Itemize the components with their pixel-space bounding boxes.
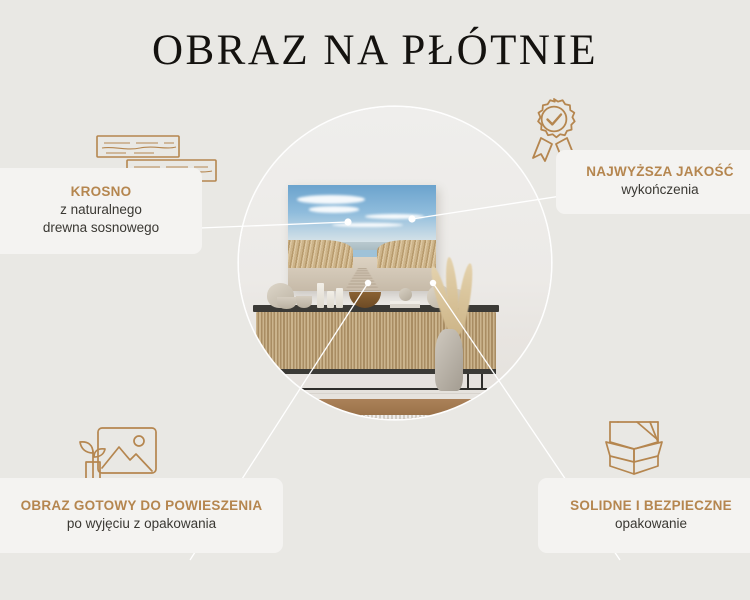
center-product-photo [239, 107, 551, 419]
feature-sub-line: wykończenia [621, 181, 698, 199]
feature-heading-jakosc: NAJWYŻSZA JAKOŚĆ [586, 164, 734, 181]
canvas-artwork-beach [288, 185, 436, 291]
page-title: OBRAZ NA PŁÓTNIE [0, 26, 750, 75]
ceramic-bowl [277, 297, 296, 309]
feature-card-opakowanie[interactable]: SOLIDNE I BEZPIECZNE opakowanie [538, 478, 750, 553]
feature-sub-gotowy: po wyjęciu z opakowania [67, 515, 216, 533]
feature-heading-gotowy: OBRAZ GOTOWY DO POWIESZENIA [21, 498, 263, 515]
feature-sub-line: drewna sosnowego [43, 219, 159, 237]
artwork-cloud [309, 206, 359, 212]
feature-heading-krosno: KROSNO [71, 184, 132, 201]
feature-card-jakosc[interactable]: NAJWYŻSZA JAKOŚĆ wykończenia [556, 150, 750, 214]
feature-sub-jakosc: wykończenia [621, 181, 698, 199]
artwork-cloud [365, 214, 424, 219]
pillar-candle [317, 283, 324, 308]
pillar-candle [336, 288, 343, 308]
floor-vase [435, 329, 463, 391]
feature-sub-line: z naturalnego [43, 201, 159, 219]
decor-sphere [399, 288, 412, 301]
feature-sub-line: opakowanie [615, 515, 687, 533]
artwork-cloud [297, 195, 365, 205]
stacked-books [390, 301, 420, 308]
feature-sub-opakowanie: opakowanie [615, 515, 687, 533]
artwork-dune-grass-right [377, 240, 436, 268]
feature-sub-krosno: z naturalnego drewna sosnowego [43, 201, 159, 237]
ceramic-bowl [296, 296, 312, 308]
cardboard-box-icon [597, 416, 671, 483]
feature-card-krosno[interactable]: KROSNO z naturalnego drewna sosnowego [0, 168, 202, 254]
feature-card-gotowy[interactable]: OBRAZ GOTOWY DO POWIESZENIA po wyjęciu z… [0, 478, 283, 553]
infographic-canvas: OBRAZ NA PŁÓTNIE [0, 0, 750, 600]
feature-heading-opakowanie: SOLIDNE I BEZPIECZNE [570, 498, 732, 515]
feature-sub-line: po wyjęciu z opakowania [67, 515, 216, 533]
room-scene [239, 107, 551, 419]
artwork-dune-grass-left [288, 240, 353, 268]
pillar-candle [327, 291, 334, 308]
area-rug [239, 415, 551, 419]
